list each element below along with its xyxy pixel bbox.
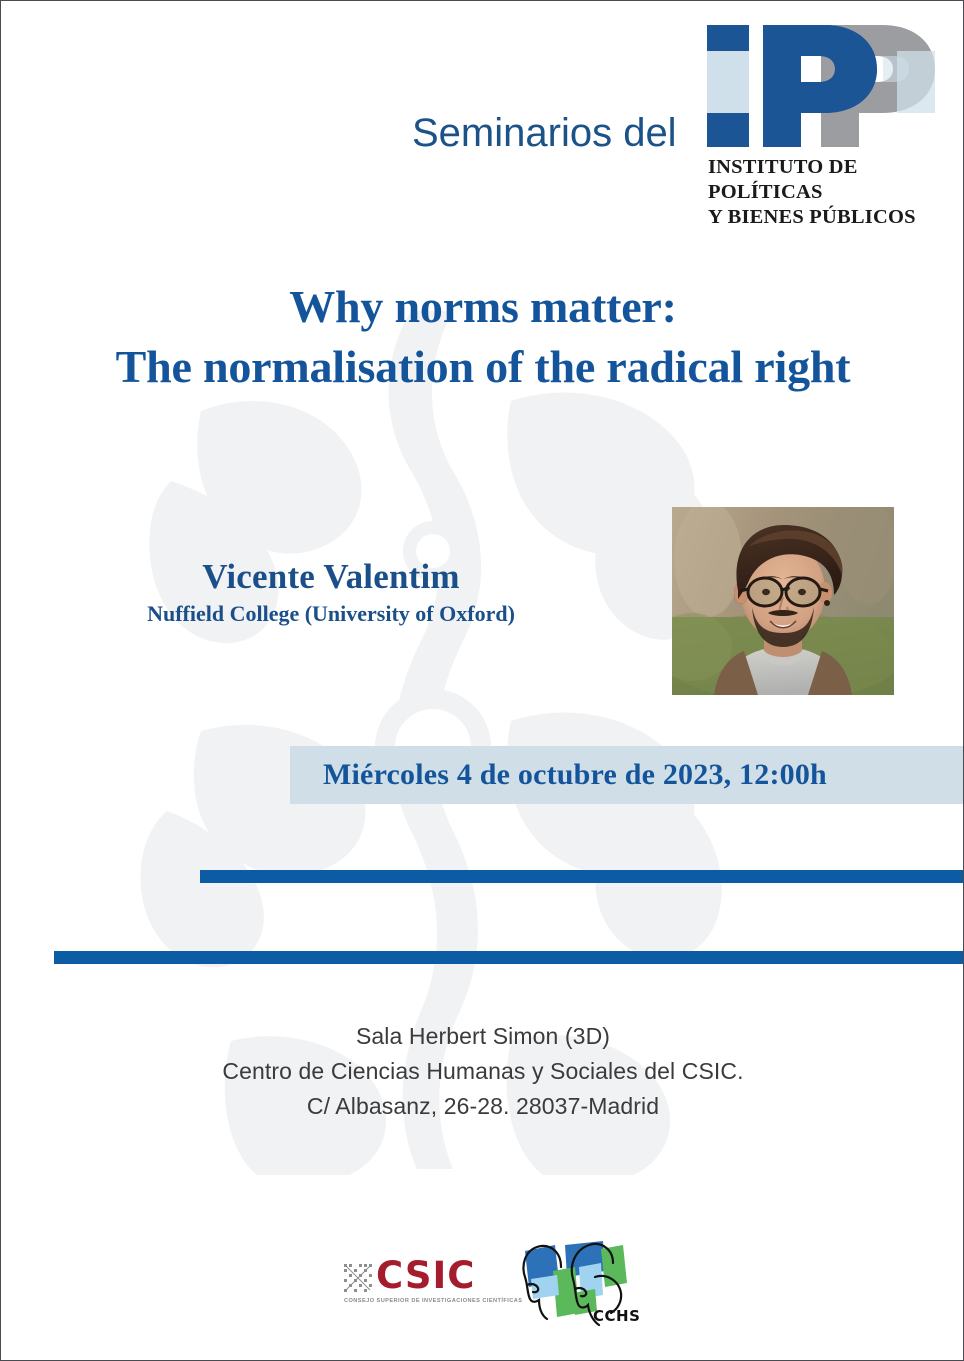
- csic-grid-icon: [343, 1263, 373, 1293]
- divider-rule-bottom: [54, 951, 964, 964]
- speaker-name: Vicente Valentim: [1, 557, 661, 596]
- venue-address: Sala Herbert Simon (3D) Centro de Cienci…: [1, 1019, 964, 1124]
- ipp-logo: INSTITUTO DE POLÍTICAS Y BIENES PÚBLICOS: [701, 23, 946, 208]
- title-line-2: The normalisation of the radical right: [1, 337, 964, 397]
- ipp-institute-name: INSTITUTO DE POLÍTICAS Y BIENES PÚBLICOS: [708, 155, 943, 230]
- csic-tagline: CONSEJO SUPERIOR DE INVESTIGACIONES CIEN…: [344, 1298, 522, 1304]
- seminar-poster: Seminarios del: [0, 0, 964, 1361]
- cchs-label: CCHS: [593, 1307, 640, 1325]
- series-label: Seminarios del: [412, 111, 677, 156]
- seminar-datetime: Miércoles 4 de octubre de 2023, 12:00h: [290, 758, 827, 792]
- ipp-acronym-mark: [701, 23, 941, 149]
- speaker-block: Vicente Valentim Nuffield College (Unive…: [1, 557, 661, 628]
- speaker-affiliation: Nuffield College (University of Oxford): [1, 600, 661, 628]
- csic-logo: CSIC CONSEJO SUPERIOR DE INVESTIGACIONES…: [343, 1257, 493, 1307]
- date-banner: Miércoles 4 de octubre de 2023, 12:00h: [290, 746, 964, 804]
- venue-street: C/ Albasanz, 26-28. 28037-Madrid: [1, 1089, 964, 1124]
- title-line-1: Why norms matter:: [289, 281, 677, 332]
- poster-header: Seminarios del: [1, 1, 964, 221]
- csic-wordmark: CSIC: [376, 1257, 475, 1294]
- divider-rule-top: [200, 870, 964, 883]
- venue-room: Sala Herbert Simon (3D): [1, 1019, 964, 1054]
- ipp-name-line2: Y BIENES PÚBLICOS: [708, 206, 916, 228]
- venue-center: Centro de Ciencias Humanas y Sociales de…: [1, 1054, 964, 1089]
- ipp-name-line1: INSTITUTO DE POLÍTICAS: [708, 156, 858, 203]
- speaker-photo: [672, 507, 894, 695]
- seminar-title: Why norms matter: The normalisation of t…: [1, 277, 964, 397]
- cchs-logo: CCHS: [517, 1237, 645, 1329]
